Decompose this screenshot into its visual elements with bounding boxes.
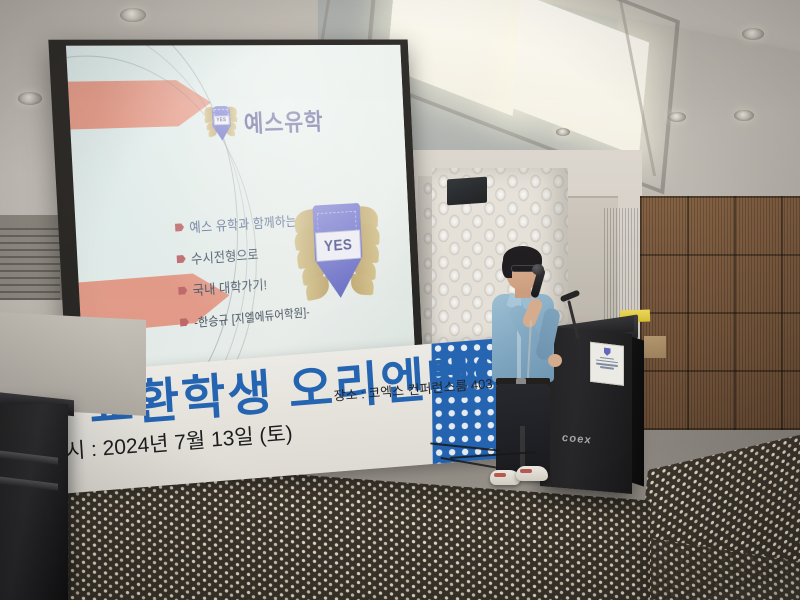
av-cabinet-slot (0, 476, 58, 491)
downlight-icon (18, 92, 42, 105)
speaker-right-hand (548, 354, 562, 367)
microphone-head-icon (532, 264, 544, 275)
podium-sign-crest-icon (604, 347, 611, 356)
av-cabinet (0, 404, 68, 600)
podium-sign-line (600, 366, 614, 369)
floor-cables (430, 440, 550, 470)
wall-monitor (447, 177, 487, 206)
av-cabinet-slot (0, 450, 58, 465)
downlight-icon (742, 28, 764, 40)
podium-notice-sign (590, 342, 624, 386)
cardboard-box (644, 336, 666, 358)
podium-brand-logo: coex (562, 432, 592, 447)
seminar-photo-scene: YES 예스유학 예스 유학과 함께하는 수시전형으로 국내 (0, 0, 800, 600)
downlight-icon (120, 8, 146, 22)
downlight-icon (668, 112, 686, 122)
downlight-icon (734, 110, 754, 121)
downlight-icon (556, 128, 570, 136)
